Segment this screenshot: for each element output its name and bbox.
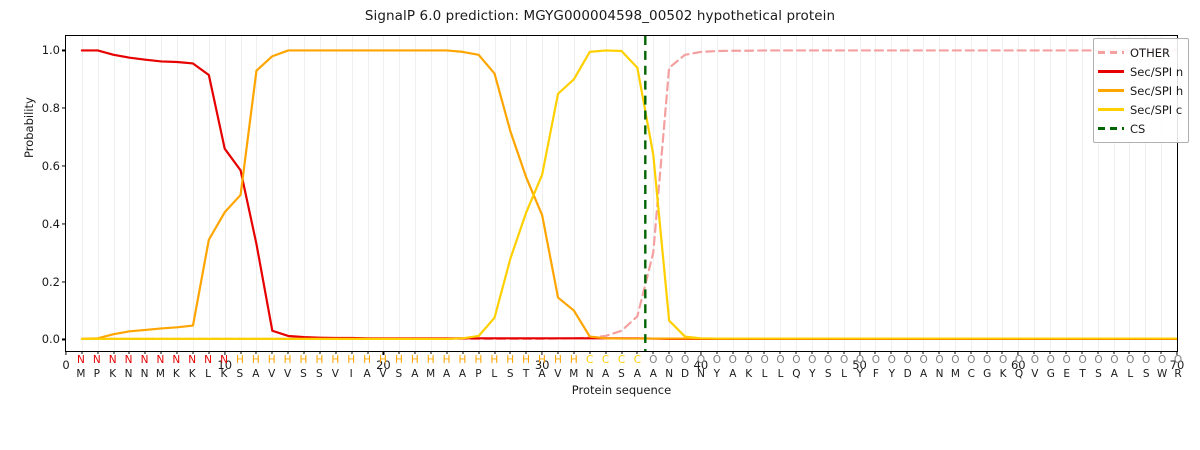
y-tick-mark <box>62 281 66 282</box>
residue-label: V <box>554 368 561 381</box>
y-tick-label: 0.6 <box>42 159 60 173</box>
y-tick-mark <box>62 50 66 51</box>
plot-inner <box>66 36 1177 351</box>
residue-label: M <box>569 368 578 381</box>
region-label: N <box>77 354 85 367</box>
legend-item-sec-spi-n[interactable]: Sec/SPI n <box>1098 62 1183 81</box>
residue-label: K <box>1000 368 1007 381</box>
region-label: H <box>315 354 323 367</box>
signalp-prediction-figure: SignalP 6.0 prediction: MGYG000004598_00… <box>0 0 1200 450</box>
y-tick-mark <box>62 339 66 340</box>
residue-label: F <box>873 368 879 381</box>
legend-label-sec-spi-n: Sec/SPI n <box>1130 65 1183 79</box>
legend-item-sec-spi-h[interactable]: Sec/SPI h <box>1098 81 1183 100</box>
residue-label: G <box>983 368 991 381</box>
residue-label: N <box>665 368 673 381</box>
region-label: O <box>983 354 991 367</box>
residue-label: T <box>523 368 529 381</box>
legend-label-cs: CS <box>1130 122 1145 136</box>
region-label: H <box>554 354 562 367</box>
region-label: H <box>347 354 355 367</box>
region-label: N <box>109 354 117 367</box>
residue-label: K <box>189 368 196 381</box>
residue-label: P <box>94 368 100 381</box>
residue-label: A <box>650 368 657 381</box>
region-label: N <box>204 354 212 367</box>
residue-label: A <box>729 368 736 381</box>
region-label: O <box>856 354 864 367</box>
region-label: N <box>172 354 180 367</box>
residue-label: L <box>762 368 768 381</box>
region-label: O <box>935 354 943 367</box>
region-label: H <box>331 354 339 367</box>
region-label: C <box>602 354 609 367</box>
region-label: H <box>284 354 292 367</box>
region-label: C <box>618 354 625 367</box>
region-label: N <box>141 354 149 367</box>
residue-label: S <box>396 368 403 381</box>
residue-label: Y <box>809 368 815 381</box>
region-label: O <box>1094 354 1102 367</box>
residue-label: A <box>252 368 259 381</box>
region-label: O <box>1174 354 1182 367</box>
y-tick-label: 0.4 <box>42 217 60 231</box>
legend-item-sec-spi-c[interactable]: Sec/SPI c <box>1098 100 1183 119</box>
region-label: O <box>951 354 959 367</box>
residue-label: T <box>1079 368 1085 381</box>
region-label: O <box>792 354 800 367</box>
region-label: O <box>808 354 816 367</box>
region-label: H <box>411 354 419 367</box>
residue-label: N <box>141 368 149 381</box>
y-tick-mark <box>62 223 66 224</box>
region-label: O <box>1126 354 1134 367</box>
residue-label: N <box>125 368 133 381</box>
residue-label: Y <box>857 368 863 381</box>
region-label: N <box>93 354 101 367</box>
residue-label: S <box>507 368 514 381</box>
residue-label: D <box>904 368 912 381</box>
protein-sequence-row: MPKNNMKKLKSAVVSSVIAVSAMAAPLSTAVMNASAANDN… <box>65 368 1178 381</box>
residue-label: V <box>379 368 386 381</box>
residue-label: Q <box>792 368 800 381</box>
residue-label: L <box>1127 368 1133 381</box>
region-annotation-row: NNNNNNNNNNHHHHHHHHHHHHHHHHHHHHHHCCCCOOOO… <box>65 354 1178 367</box>
region-label: O <box>1158 354 1166 367</box>
residue-label: A <box>459 368 466 381</box>
residue-label: Y <box>889 368 895 381</box>
region-label: O <box>824 354 832 367</box>
residue-label: Q <box>1015 368 1023 381</box>
region-label: H <box>427 354 435 367</box>
residue-label: S <box>1143 368 1150 381</box>
region-label: C <box>634 354 641 367</box>
residue-label: V <box>284 368 291 381</box>
region-label: H <box>506 354 514 367</box>
residue-label: K <box>745 368 752 381</box>
region-label: O <box>1015 354 1023 367</box>
region-label: H <box>363 354 371 367</box>
residue-label: P <box>475 368 481 381</box>
residue-label: N <box>697 368 705 381</box>
region-label: O <box>1078 354 1086 367</box>
region-label: O <box>840 354 848 367</box>
region-label: O <box>872 354 880 367</box>
region-label: O <box>1047 354 1055 367</box>
y-axis-label: Probability <box>22 97 36 158</box>
region-label: N <box>188 354 196 367</box>
residue-label: L <box>778 368 784 381</box>
region-label: N <box>156 354 164 367</box>
residue-label: K <box>173 368 180 381</box>
region-label: O <box>1110 354 1118 367</box>
region-label: C <box>586 354 593 367</box>
y-tick-label: 0.2 <box>42 275 60 289</box>
residue-label: A <box>443 368 450 381</box>
region-label: O <box>919 354 927 367</box>
residue-label: A <box>538 368 545 381</box>
residue-label: M <box>156 368 165 381</box>
residue-label: L <box>841 368 847 381</box>
region-label: H <box>459 354 467 367</box>
residue-label: S <box>825 368 832 381</box>
residue-label: S <box>300 368 307 381</box>
residue-label: Y <box>714 368 720 381</box>
y-tick-label: 0.0 <box>42 332 60 346</box>
residue-label: A <box>920 368 927 381</box>
region-label: H <box>490 354 498 367</box>
residue-label: L <box>205 368 211 381</box>
legend-item-cs[interactable]: CS <box>1098 119 1183 138</box>
region-label: H <box>379 354 387 367</box>
residue-label: S <box>1095 368 1102 381</box>
residue-label: M <box>76 368 85 381</box>
series-line-sec-spi-n <box>82 50 1177 338</box>
region-label: O <box>729 354 737 367</box>
sec-spi-c-line-swatch-icon <box>1098 104 1124 115</box>
region-label: O <box>967 354 975 367</box>
region-label: O <box>904 354 912 367</box>
region-label: O <box>1063 354 1071 367</box>
cleavage-site-line-swatch-icon <box>1098 123 1124 134</box>
y-tick-label: 1.0 <box>42 43 60 57</box>
region-label: N <box>125 354 133 367</box>
residue-label: A <box>411 368 418 381</box>
residue-label: V <box>332 368 339 381</box>
x-axis-label: Protein sequence <box>66 383 1177 397</box>
residue-label: M <box>426 368 435 381</box>
region-label: O <box>760 354 768 367</box>
residue-label: L <box>491 368 497 381</box>
residue-label: S <box>618 368 625 381</box>
residue-label: D <box>681 368 689 381</box>
region-label: H <box>268 354 276 367</box>
region-label: O <box>713 354 721 367</box>
residue-label: E <box>1063 368 1070 381</box>
residue-label: V <box>1031 368 1038 381</box>
region-label: H <box>395 354 403 367</box>
y-tick-label: 0.8 <box>42 101 60 115</box>
residue-label: C <box>968 368 975 381</box>
residue-label: G <box>1047 368 1055 381</box>
region-label: O <box>1031 354 1039 367</box>
residue-label: A <box>602 368 609 381</box>
region-label: H <box>538 354 546 367</box>
residue-label: S <box>316 368 323 381</box>
region-label: H <box>522 354 530 367</box>
residue-label: I <box>350 368 353 381</box>
y-tick-mark <box>62 108 66 109</box>
residue-label: V <box>268 368 275 381</box>
legend-label-other: OTHER <box>1130 46 1170 60</box>
residue-label: K <box>221 368 228 381</box>
legend: OTHER Sec/SPI n Sec/SPI h Sec/SPI c CS <box>1093 38 1189 143</box>
region-label: O <box>776 354 784 367</box>
residue-label: N <box>936 368 944 381</box>
residue-label: N <box>586 368 594 381</box>
legend-item-other[interactable]: OTHER <box>1098 43 1183 62</box>
sec-spi-n-line-swatch-icon <box>1098 66 1124 77</box>
region-label: O <box>649 354 657 367</box>
residue-label: W <box>1157 368 1167 381</box>
residue-label: M <box>951 368 960 381</box>
region-label: O <box>999 354 1007 367</box>
page-title: SignalP 6.0 prediction: MGYG000004598_00… <box>0 8 1200 24</box>
residue-label: A <box>364 368 371 381</box>
other-line-swatch-icon <box>1098 47 1124 58</box>
region-label: O <box>745 354 753 367</box>
residue-label: K <box>109 368 116 381</box>
region-label: O <box>697 354 705 367</box>
residue-label: R <box>1174 368 1181 381</box>
residue-label: A <box>1111 368 1118 381</box>
region-label: H <box>300 354 308 367</box>
legend-label-sec-spi-c: Sec/SPI c <box>1130 103 1182 117</box>
residue-label: S <box>237 368 244 381</box>
region-label: H <box>443 354 451 367</box>
region-label: O <box>1142 354 1150 367</box>
residue-label: A <box>634 368 641 381</box>
region-label: H <box>252 354 260 367</box>
probability-curves <box>66 36 1177 351</box>
region-label: H <box>570 354 578 367</box>
plot-area: 0.00.20.40.60.81.0 010203040506070 Proba… <box>65 35 1178 352</box>
region-label: O <box>888 354 896 367</box>
region-label: O <box>665 354 673 367</box>
legend-label-sec-spi-h: Sec/SPI h <box>1130 84 1183 98</box>
region-label: H <box>474 354 482 367</box>
region-label: O <box>681 354 689 367</box>
region-label: N <box>220 354 228 367</box>
region-label: H <box>236 354 244 367</box>
y-tick-mark <box>62 165 66 166</box>
sec-spi-h-line-swatch-icon <box>1098 85 1124 96</box>
